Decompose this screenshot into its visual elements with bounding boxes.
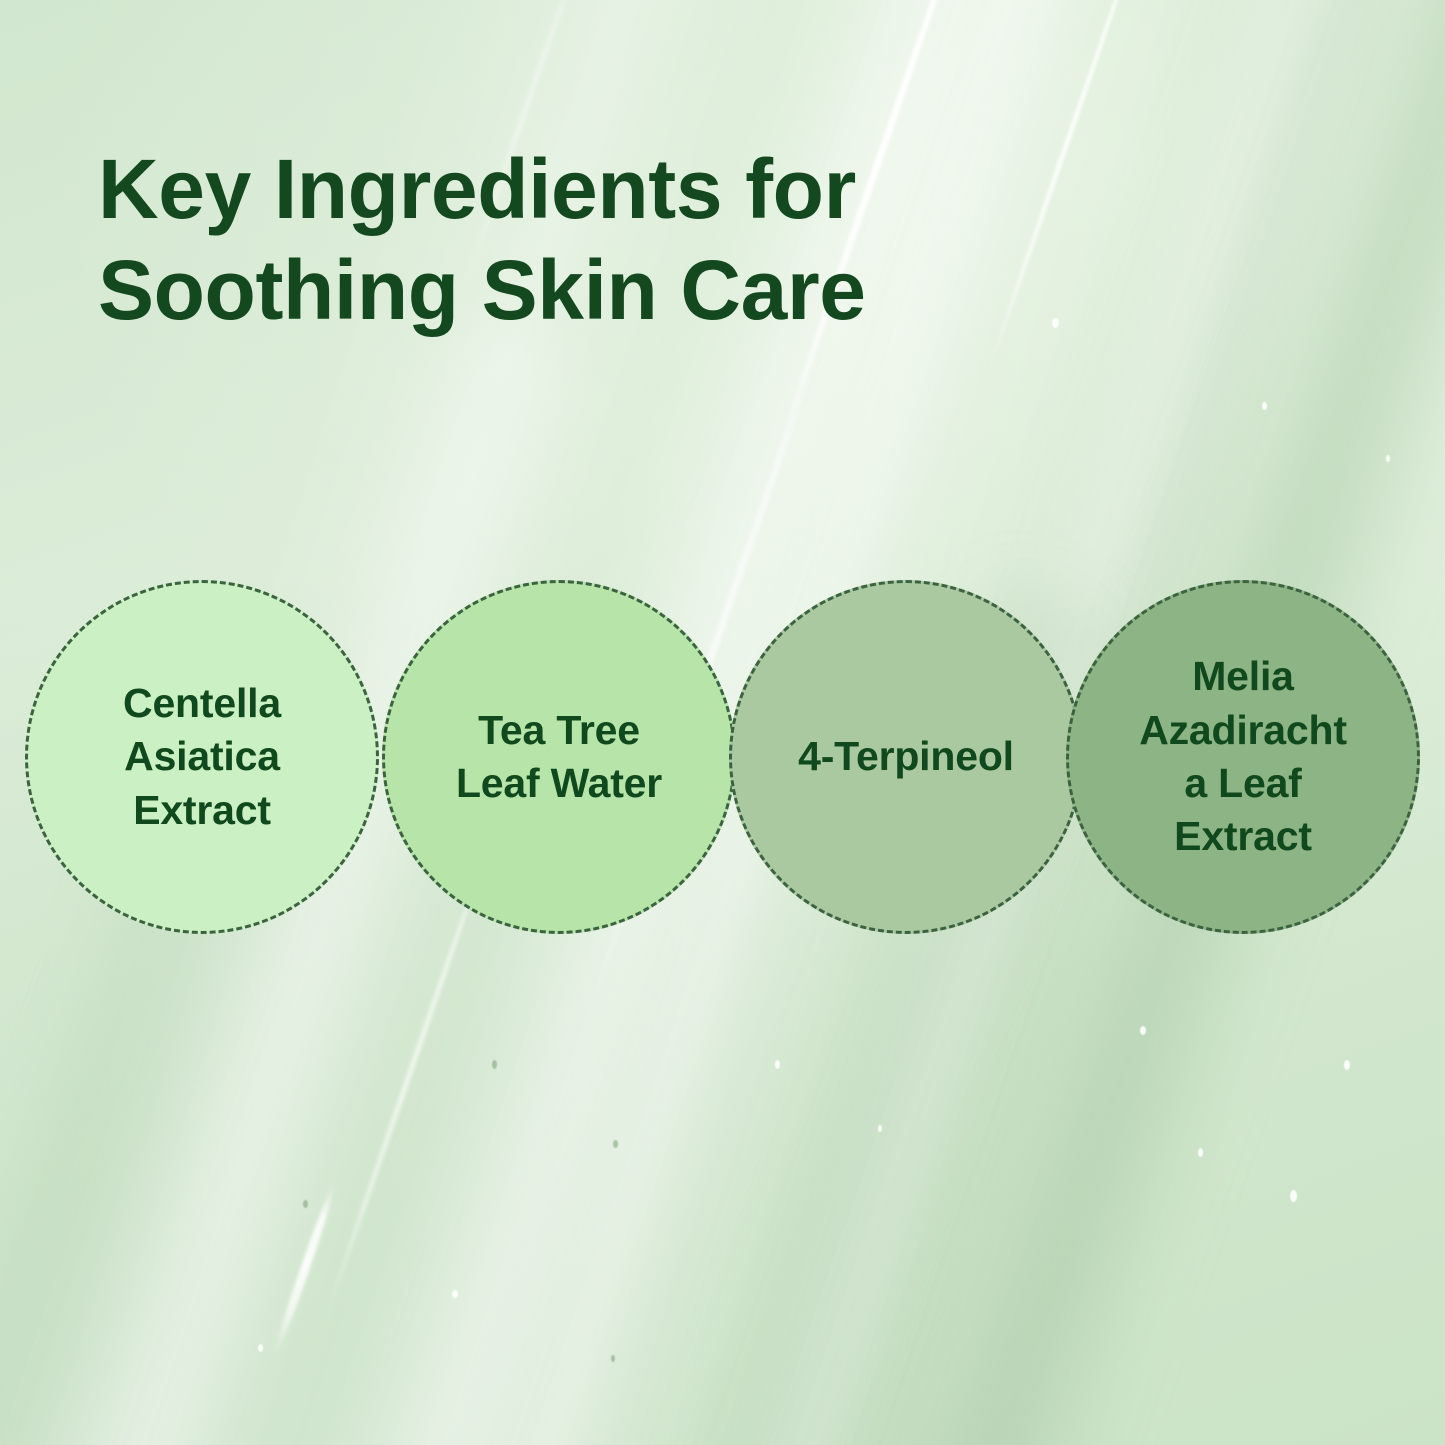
ingredient-circle-group: Centella Asiatica Extract Tea Tree Leaf …: [0, 580, 1445, 940]
ingredient-label-line-3: a Leaf: [1184, 760, 1301, 806]
page-title-line-2: Soothing Skin Care: [98, 240, 1078, 341]
bubble-speck: [1198, 1148, 1203, 1157]
bubble-speck-dark: [611, 1355, 615, 1362]
ingredient-circle-centella-asiatica-extract[interactable]: Centella Asiatica Extract: [25, 580, 379, 934]
page-title-line-1: Key Ingredients for: [98, 139, 1078, 240]
bubble-speck: [258, 1344, 263, 1352]
bubble-speck: [452, 1290, 458, 1298]
bubble-speck-dark: [492, 1060, 497, 1069]
ingredient-label-line-1: Centella: [123, 680, 281, 726]
ingredient-label: Tea Tree Leaf Water: [422, 704, 696, 811]
ingredient-label-line-2: Leaf Water: [456, 760, 662, 806]
ingredient-label-line-1: Melia: [1192, 653, 1294, 699]
ingredient-label: 4-Terpineol: [764, 730, 1048, 783]
ingredient-label-line-2: Azadiracht: [1139, 707, 1347, 753]
ingredient-label-line-3: Extract: [133, 787, 271, 833]
ingredient-circle-tea-tree-leaf-water[interactable]: Tea Tree Leaf Water: [382, 580, 736, 934]
ingredient-label: Centella Asiatica Extract: [89, 677, 315, 837]
bubble-speck-dark: [613, 1140, 618, 1148]
page-title: Key Ingredients for Soothing Skin Care: [98, 139, 1078, 341]
bubble-speck: [878, 1125, 882, 1132]
ingredient-circle-4-terpineol[interactable]: 4-Terpineol: [729, 580, 1083, 934]
bubble-speck: [1386, 455, 1390, 462]
ingredient-label: Melia Azadiracht a Leaf Extract: [1121, 650, 1365, 863]
bubble-speck: [1262, 402, 1267, 410]
bubble-speck: [1344, 1060, 1350, 1070]
ingredient-label-line-1: Tea Tree: [478, 707, 640, 753]
ingredient-label-line-2: Asiatica: [124, 733, 280, 779]
bubble-speck: [775, 1060, 780, 1069]
ingredient-label-line-4: Extract: [1174, 813, 1312, 859]
bubble-speck: [1290, 1190, 1297, 1202]
ingredient-infographic: Key Ingredients for Soothing Skin Care C…: [0, 0, 1445, 1445]
bubble-speck: [1140, 1026, 1146, 1035]
bubble-speck-dark: [303, 1200, 308, 1208]
ingredient-circle-melia-azadirachta-leaf-extract[interactable]: Melia Azadiracht a Leaf Extract: [1066, 580, 1420, 934]
ingredient-label-line-1: 4-Terpineol: [798, 733, 1014, 779]
